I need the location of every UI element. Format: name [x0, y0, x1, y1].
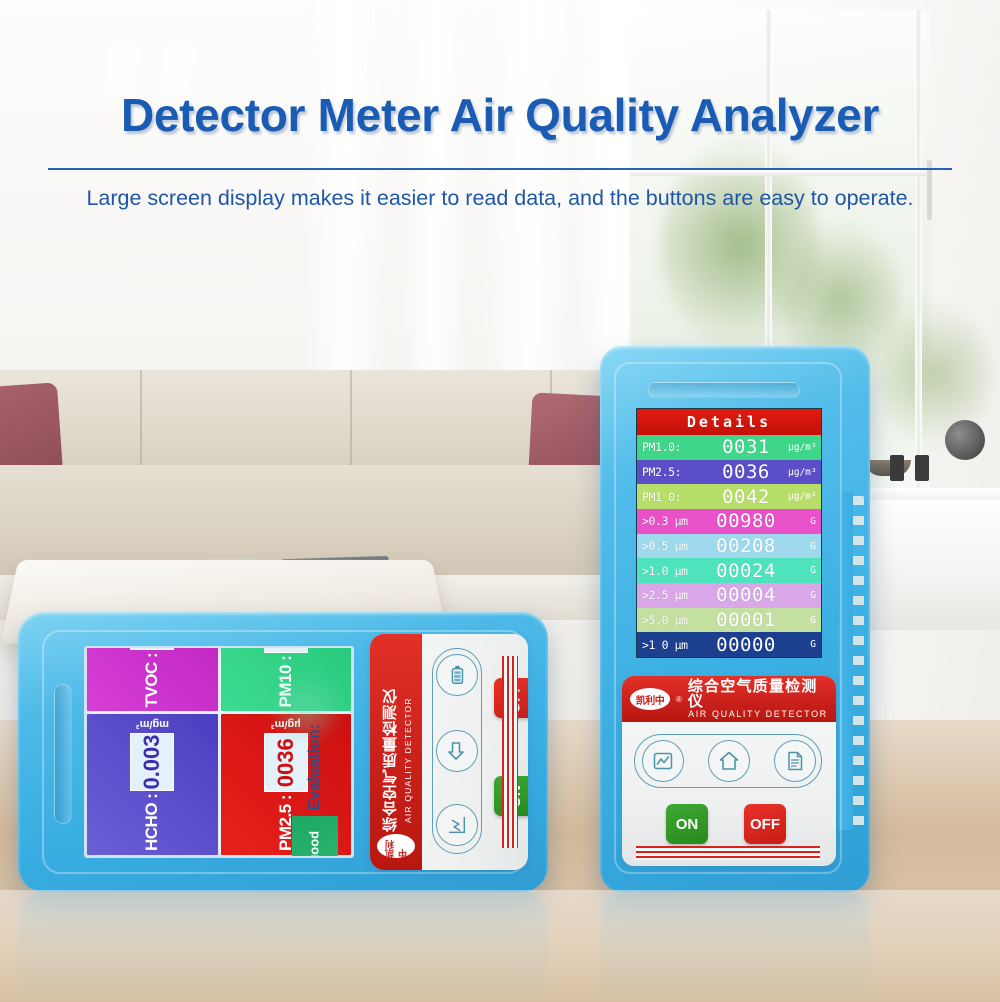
panel-hcho-value: 0.003	[130, 733, 174, 790]
sideboard	[860, 500, 1000, 630]
device-left-stripes	[502, 656, 518, 848]
device-portrait[interactable]: Details PM1.0: 0031 µg/m³ PM2.5: 0036 µg…	[600, 346, 870, 892]
row-unit: µg/m³	[788, 442, 816, 453]
screen-title: Details	[637, 409, 821, 435]
evaluation-label: Evaluation:	[306, 724, 324, 810]
on-button-right[interactable]: ON	[666, 804, 708, 844]
pillow-rose-left	[0, 382, 63, 477]
row-label: >5.0 µm	[642, 613, 704, 627]
device-right-brand-names: 综合空气质量检测仪 AIR QUALITY DETECTOR	[688, 679, 828, 720]
row-value: 00980	[704, 510, 788, 532]
battery-icon	[446, 664, 468, 686]
registered-mark: ®	[676, 695, 682, 704]
lcd-row: PM1.0: 0031 µg/m³	[637, 435, 821, 460]
device-left-brand-names: 综合空气质量检测仪 AIR QUALITY DETECTOR	[380, 688, 413, 832]
panel-tvoc-label: TVOC :	[142, 653, 162, 708]
panel-hcho: HCHO : 0.003 mg/m³	[87, 714, 218, 855]
row-value: 0036	[704, 461, 788, 483]
page-subtitle: Large screen display makes it easier to …	[0, 186, 1000, 211]
header-divider	[48, 168, 952, 170]
device-left-control-face: 凯利中 综合空气质量检测仪 AIR QUALITY DETECTOR	[370, 634, 528, 870]
header: Detector Meter Air Quality Analyzer Larg…	[0, 0, 1000, 211]
panel-hcho-unit: mg/m³	[136, 718, 169, 730]
row-unit: G	[788, 615, 816, 626]
device-right-stripes	[636, 846, 820, 860]
row-value: 0042	[704, 486, 788, 508]
lcd-row: >0.5 µm 00208 G	[637, 534, 821, 559]
back-arrow-icon-button-left[interactable]	[436, 730, 478, 772]
battery-icon-button-left[interactable]	[436, 654, 478, 696]
brand-name-cn-left: 综合空气质量检测仪	[380, 688, 401, 832]
chart-icon-button-right[interactable]	[642, 740, 684, 782]
evaluation-zone: Evaluation: very good	[282, 652, 348, 858]
brand-logo-oval-right: 凯利中	[630, 688, 670, 710]
row-value: 00004	[704, 584, 788, 606]
panel-hcho-label: HCHO :	[142, 794, 162, 851]
row-label: PM1 0:	[642, 490, 704, 504]
row-value: 00001	[704, 609, 788, 631]
lcd-row: >5.0 µm 00001 G	[637, 608, 821, 633]
chart-icon	[651, 749, 675, 773]
lcd-row: >1 0 µm 00000 G	[637, 632, 821, 657]
row-unit: µg/m³	[788, 467, 816, 478]
speaker-1	[890, 455, 904, 481]
device-right-control-face: 凯利中 ® 综合空气质量检测仪 AIR QUALITY DETECTOR	[622, 676, 836, 866]
row-unit: G	[788, 541, 816, 552]
decor-sphere	[945, 420, 985, 460]
panel-tvoc: TVOC : 0.023 mg/m³	[87, 646, 218, 711]
device-right-screen: Details PM1.0: 0031 µg/m³ PM2.5: 0036 µg…	[636, 408, 822, 658]
back-arrow-icon	[445, 739, 469, 763]
row-unit: G	[788, 516, 816, 527]
row-label: PM1.0:	[642, 440, 704, 454]
lcd-row: PM2.5: 0036 µg/m³	[637, 460, 821, 485]
brand-name-en-left: AIR QUALITY DETECTOR	[403, 688, 413, 832]
on-button-right-label: ON	[676, 816, 699, 833]
row-value: 00000	[704, 634, 788, 656]
device-right-brand-band: 凯利中 ® 综合空气质量检测仪 AIR QUALITY DETECTOR	[622, 676, 836, 722]
row-value: 0031	[704, 436, 788, 458]
evaluation-badge: very good	[292, 816, 338, 858]
lcd-row: PM1 0: 0042 µg/m³	[637, 484, 821, 509]
speaker-2	[915, 455, 929, 481]
row-label: PM2.5:	[642, 465, 704, 479]
device-landscape[interactable]: HCHO : 0.003 mg/m³ TVOC : 0.023 mg/m³ PM…	[18, 612, 548, 892]
page-title: Detector Meter Air Quality Analyzer	[0, 88, 1000, 142]
off-button-right-label: OFF	[750, 816, 780, 833]
lcd-row: >1.0 µm 00024 G	[637, 558, 821, 583]
row-value: 00208	[704, 535, 788, 557]
device-left-side-slot	[54, 684, 72, 824]
off-button-right[interactable]: OFF	[744, 804, 786, 844]
brand-name-en-right: AIR QUALITY DETECTOR	[688, 710, 828, 719]
row-label: >0.3 µm	[642, 514, 704, 528]
row-unit: G	[788, 590, 816, 601]
row-label: >2.5 µm	[642, 588, 704, 602]
device-left-screen: HCHO : 0.003 mg/m³ TVOC : 0.023 mg/m³ PM…	[84, 646, 354, 858]
row-label: >1 0 µm	[642, 638, 704, 652]
row-value: 00024	[704, 560, 788, 582]
brand-name-cn-right: 综合空气质量检测仪	[688, 679, 828, 711]
chart-icon	[446, 814, 468, 836]
row-unit: G	[788, 639, 816, 650]
row-label: >0.5 µm	[642, 539, 704, 553]
row-unit: G	[788, 565, 816, 576]
home-icon-button-right[interactable]	[708, 740, 750, 782]
sofa-seam-2	[350, 370, 352, 480]
sofa-seam-1	[140, 370, 142, 480]
row-label: >1.0 µm	[642, 564, 704, 578]
device-left-keys: OFF ON	[422, 634, 528, 870]
device-right-top-slot	[648, 382, 800, 398]
lcd-row: >2.5 µm 00004 G	[637, 583, 821, 608]
row-unit: µg/m³	[788, 491, 816, 502]
document-icon-button-right[interactable]	[774, 740, 816, 782]
document-icon	[783, 749, 807, 773]
device-left-brand-band: 凯利中 综合空气质量检测仪 AIR QUALITY DETECTOR	[370, 634, 422, 870]
brand-logo-text-left: 凯利中	[383, 834, 409, 858]
home-icon	[717, 749, 741, 773]
chart-icon-button-left[interactable]	[436, 804, 478, 846]
device-right-keys: ON OFF	[622, 722, 836, 866]
panel-tvoc-value: 0.023	[130, 646, 174, 650]
lcd-row: >0.3 µm 00980 G	[637, 509, 821, 534]
brand-logo-oval-left: 凯利中	[377, 834, 415, 858]
